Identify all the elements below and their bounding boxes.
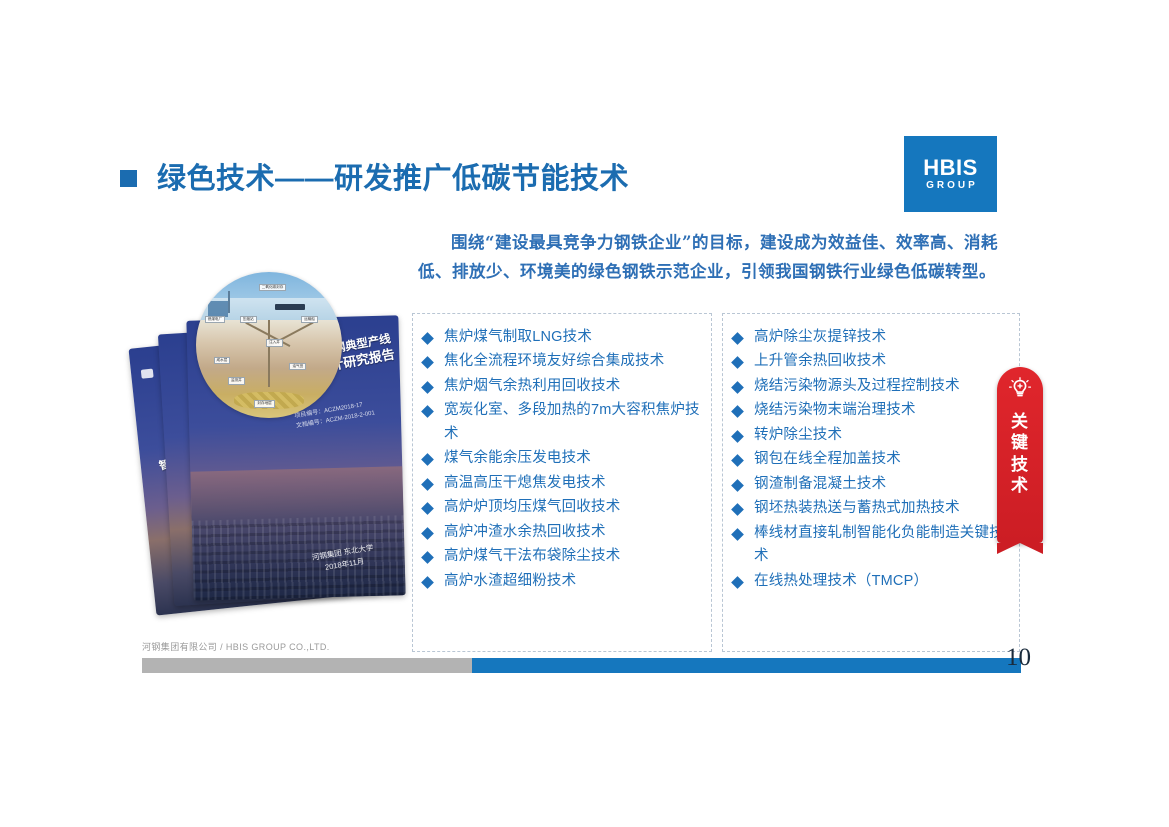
- tech-list-left: 焦炉煤气制取LNG技术 焦化全流程环境友好综合集成技术 焦炉烟气余热利用回收技术…: [412, 313, 712, 652]
- inset-tag-5: 油气田: [289, 363, 306, 371]
- list-item[interactable]: 烧结污染物末端治理技术: [733, 399, 1009, 422]
- list-item[interactable]: 高炉冲渣水余热回收技术: [423, 521, 701, 544]
- inset-tag-3: 压缩站: [240, 316, 257, 324]
- title-bullet-square: [120, 170, 137, 187]
- diamond-bullet-icon: [421, 527, 434, 540]
- list-item[interactable]: 煤气余能余压发电技术: [423, 447, 701, 470]
- footer-bar-blue: [472, 658, 1021, 673]
- diamond-bullet-icon: [731, 528, 744, 541]
- ship-icon: [275, 304, 305, 310]
- list-item[interactable]: 高温高压干熄焦发电技术: [423, 472, 701, 495]
- ribbon-char-2: 技: [997, 454, 1043, 475]
- list-item-label: 钢坯热装热送与蓄热式加热技术: [754, 497, 960, 520]
- slide-canvas: 绿色技术——研发推广低碳节能技术 HBIS GROUP 围绕“建设最具竞争力钢铁…: [0, 0, 1169, 827]
- list-item[interactable]: 宽炭化室、多段加热的7m大容积焦炉技术: [423, 399, 701, 446]
- key-technology-ribbon: 关 键 技 术: [997, 367, 1043, 543]
- diamond-bullet-icon: [421, 454, 434, 467]
- diamond-bullet-icon: [421, 357, 434, 370]
- diamond-bullet-icon: [421, 478, 434, 491]
- list-item-label: 高炉煤气干法布袋除尘技术: [444, 545, 620, 568]
- ribbon-label: 关 键 技 术: [997, 411, 1043, 497]
- list-item[interactable]: 焦化全流程环境友好综合集成技术: [423, 350, 701, 373]
- page-title: 绿色技术——研发推广低碳节能技术: [157, 155, 629, 197]
- diamond-bullet-icon: [731, 504, 744, 517]
- list-item[interactable]: 在线热处理技术（TMCP）: [733, 570, 1009, 593]
- list-item[interactable]: 高炉除尘灰提锌技术: [733, 326, 1009, 349]
- diamond-bullet-icon: [421, 381, 434, 394]
- diamond-bullet-icon: [731, 406, 744, 419]
- list-item-label: 煤气余能余压发电技术: [444, 447, 591, 470]
- slide-header: 绿色技术——研发推广低碳节能技术: [120, 155, 629, 197]
- list-item-label: 钢包在线全程加盖技术: [754, 448, 901, 471]
- list-item-label: 高炉冲渣水余热回收技术: [444, 521, 606, 544]
- diamond-bullet-icon: [421, 332, 434, 345]
- list-item[interactable]: 钢渣制备混凝土技术: [733, 473, 1009, 496]
- list-item[interactable]: 烧结污染物源头及过程控制技术: [733, 375, 1009, 398]
- list-item-label: 钢渣制备混凝土技术: [754, 473, 886, 496]
- inset-tag-6: 咸水层: [214, 357, 231, 365]
- list-item-label: 上升管余热回收技术: [754, 350, 886, 373]
- list-item-label: 高炉除尘灰提锌技术: [754, 326, 886, 349]
- ribbon-char-1: 键: [997, 432, 1043, 453]
- lightbulb-icon: [1007, 376, 1033, 402]
- list-item-label: 烧结污染物末端治理技术: [754, 399, 916, 422]
- diamond-bullet-icon: [421, 406, 434, 419]
- cover-badge-icon: [141, 369, 154, 379]
- list-item[interactable]: 上升管余热回收技术: [733, 350, 1009, 373]
- inset-tag-4: 注入井: [266, 339, 283, 347]
- list-item[interactable]: 钢包在线全程加盖技术: [733, 448, 1009, 471]
- intro-paragraph: 围绕“建设最具竞争力钢铁企业”的目标，建设成为效益佳、效率高、消耗低、排放少、环…: [418, 228, 1030, 287]
- logo-wordmark: HBIS: [923, 157, 978, 179]
- list-item[interactable]: 高炉水渣超细粉技术: [423, 570, 701, 593]
- diamond-bullet-icon: [731, 332, 744, 345]
- diamond-bullet-icon: [731, 430, 744, 443]
- list-item-label: 在线热处理技术（TMCP）: [754, 570, 928, 593]
- list-item[interactable]: 转炉除尘技术: [733, 424, 1009, 447]
- footer-company-text: 河钢集团有限公司 / HBIS GROUP CO.,LTD.: [142, 640, 330, 653]
- list-item-label: 高炉水渣超细粉技术: [444, 570, 576, 593]
- inset-tag-2: 运输船: [301, 316, 318, 324]
- diamond-bullet-icon: [421, 551, 434, 564]
- inset-tag-0: 二氧化碳封存: [259, 284, 287, 292]
- hbis-logo: HBIS GROUP: [904, 136, 997, 212]
- tech-list-right: 高炉除尘灰提锌技术 上升管余热回收技术 烧结污染物源头及过程控制技术 烧结污染物…: [722, 313, 1020, 652]
- list-item-label: 焦炉烟气余热利用回收技术: [444, 375, 620, 398]
- report-cover-photo: 智能制造 智能制造 河钢典型产线 智能制造顶层设计研究报告 项目编号：ACZM2…: [140, 272, 408, 624]
- list-item-label: 棒线材直接轧制智能化负能制造关键技术: [754, 522, 1009, 569]
- cover-cityscape-photo: [190, 466, 405, 600]
- list-item-label: 焦炉煤气制取LNG技术: [444, 326, 592, 349]
- inset-tag-8: 封存地层: [254, 400, 274, 408]
- list-item-label: 烧结污染物源头及过程控制技术: [754, 375, 960, 398]
- list-item[interactable]: 高炉炉顶均压煤气回收技术: [423, 496, 701, 519]
- pipeline-vertical: [268, 320, 270, 387]
- list-item-label: 高炉炉顶均压煤气回收技术: [444, 496, 620, 519]
- inset-tag-1: 燃煤电厂: [205, 316, 225, 324]
- logo-subtext: GROUP: [926, 181, 978, 191]
- list-item-label: 焦化全流程环境友好综合集成技术: [444, 350, 665, 373]
- list-item-label: 高温高压干熄焦发电技术: [444, 472, 606, 495]
- ribbon-char-3: 术: [997, 475, 1043, 496]
- ribbon-char-0: 关: [997, 411, 1043, 432]
- list-item-label: 宽炭化室、多段加热的7m大容积焦炉技术: [444, 399, 701, 446]
- diamond-bullet-icon: [731, 576, 744, 589]
- list-item[interactable]: 焦炉煤气制取LNG技术: [423, 326, 701, 349]
- diamond-bullet-icon: [731, 455, 744, 468]
- footer-bar-gray: [142, 658, 472, 673]
- diamond-bullet-icon: [421, 503, 434, 516]
- list-item[interactable]: 棒线材直接轧制智能化负能制造关键技术: [733, 522, 1009, 569]
- list-item[interactable]: 高炉煤气干法布袋除尘技术: [423, 545, 701, 568]
- diamond-bullet-icon: [421, 576, 434, 589]
- list-item-label: 转炉除尘技术: [754, 424, 842, 447]
- inset-tag-7: 监测井: [228, 377, 245, 385]
- ccs-diagram-inset: 二氧化碳封存 燃煤电厂 运输船 压缩站 注入井 油气田 咸水层 监测井 封存地层: [196, 272, 342, 418]
- power-plant-icon: [208, 301, 228, 317]
- list-item[interactable]: 焦炉烟气余热利用回收技术: [423, 375, 701, 398]
- tower-icon: [228, 291, 230, 313]
- diamond-bullet-icon: [731, 381, 744, 394]
- list-item[interactable]: 钢坯热装热送与蓄热式加热技术: [733, 497, 1009, 520]
- diamond-bullet-icon: [731, 479, 744, 492]
- diamond-bullet-icon: [731, 357, 744, 370]
- page-number: 10: [1006, 645, 1031, 670]
